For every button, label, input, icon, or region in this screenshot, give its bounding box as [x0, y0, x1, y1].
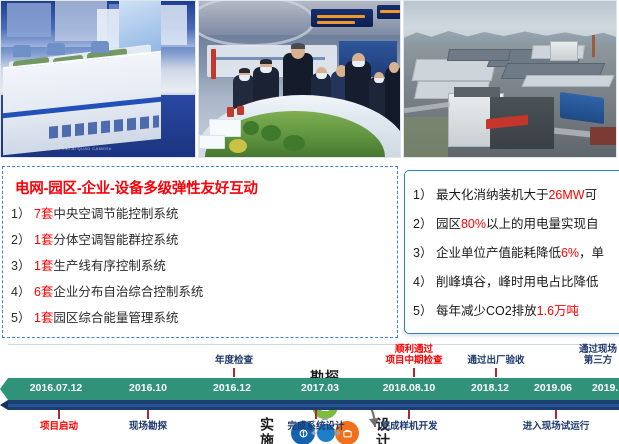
- camera-watermark-icon: [7, 140, 19, 149]
- item-quantity: 6套: [34, 285, 53, 299]
- milestone-label-prototype: 完成样机开发: [380, 421, 437, 432]
- item-highlight: 1.6万吨: [537, 304, 579, 318]
- left-panel-list: 1） 7套中央空调节能控制系统 2） 1套分体空调智能群控系统 3） 1套生产线…: [11, 201, 261, 331]
- timeline-date: 2017.03: [301, 382, 339, 394]
- item-number: 2）: [11, 233, 30, 247]
- visitor-5-mask: [352, 61, 365, 67]
- chimney-stack: [592, 35, 595, 57]
- list-item: 3） 1套生产线有序控制系统: [11, 253, 261, 279]
- item-text-pre: 企业单位产值能耗降低: [436, 246, 561, 260]
- milestone-label-midterm-review: 顺利通过 项目中期检查: [385, 344, 442, 366]
- item-text: 中央空调节能控制系统: [53, 207, 178, 221]
- item-number: 4）: [413, 275, 432, 289]
- milestone-label-factory-acceptance: 通过出厂验收: [467, 355, 524, 366]
- photo-row: SHOT ON REDMI K30 AI QUAD CAMERA: [0, 0, 619, 160]
- timeline-date: 2016.10: [129, 382, 167, 394]
- label-line: 项目中期检查: [385, 355, 442, 366]
- photo-exhibition-model-booth: SHOT ON REDMI K30 AI QUAD CAMERA: [0, 0, 196, 158]
- booth-arch-1: [13, 45, 31, 57]
- milestone-label-field-trial: 进入现场试运行: [523, 421, 590, 432]
- list-item: 1） 最大化消纳装机大于26MW可: [413, 181, 619, 210]
- item-text: 园区综合能量管理系统: [53, 311, 178, 325]
- left-panel-title: 电网-园区-企业-设备多级弹性友好互动: [15, 177, 387, 198]
- milestone-label-project-start: 项目启动: [40, 421, 78, 432]
- warehouse-roof-1: [412, 59, 497, 81]
- warehouse-roof-5: [521, 75, 614, 87]
- model-red-tank-1: [227, 107, 234, 117]
- timeline-date: 2018.08.10: [383, 382, 436, 394]
- item-quantity: 1套: [34, 311, 53, 325]
- milestone-tick-up: [233, 368, 235, 377]
- visitor-1-mask: [239, 75, 250, 81]
- item-highlight: 6%: [561, 246, 579, 260]
- item-quantity: 1套: [34, 233, 53, 247]
- milestone-tick-down: [555, 410, 557, 419]
- red-banner: [211, 49, 216, 79]
- list-item: 2） 1套分体空调智能群控系统: [11, 227, 261, 253]
- item-highlight: 26MW: [548, 188, 584, 202]
- model-red-tank-2: [237, 106, 244, 115]
- visitor-leader-hair: [291, 43, 305, 49]
- timeline-date: 2018.12: [471, 382, 509, 394]
- item-text-post: 以上的用电量实现自: [486, 217, 599, 231]
- visitor-7-head: [389, 62, 399, 73]
- led-banner-1: [311, 9, 373, 27]
- booth-arch-2: [47, 43, 65, 55]
- label-line: 通过现场: [579, 344, 617, 355]
- item-text-post: ，单: [579, 246, 604, 260]
- visitor-1-hair: [239, 68, 250, 73]
- right-panel-list: 1） 最大化消纳装机大于26MW可 2） 园区80%以上的用电量实现自 3） 企…: [413, 181, 619, 326]
- item-number: 3）: [11, 259, 30, 273]
- red-roof-building: [590, 127, 617, 145]
- booth-poster-secondary: [161, 5, 187, 45]
- visitor-2-mask: [260, 67, 272, 73]
- item-text-pre: 每年减少CO2排放: [436, 304, 537, 318]
- item-number: 3）: [413, 246, 432, 260]
- item-text-pre: 园区: [436, 217, 461, 231]
- label-line: 通过出厂验收: [467, 355, 524, 366]
- model-tuft-2: [261, 125, 281, 141]
- timeline-date: 2019.06: [534, 382, 572, 394]
- list-item: 1） 7套中央空调节能控制系统: [11, 201, 261, 227]
- label-line: 年度检查: [215, 355, 253, 366]
- item-number: 5）: [413, 304, 432, 318]
- milestone-tick-down: [315, 410, 317, 419]
- item-text-post: 可: [585, 188, 598, 202]
- led-banner-1-text: [317, 15, 365, 18]
- item-text: 企业分布自治综合控制系统: [53, 285, 203, 299]
- item-highlight: 80%: [461, 217, 486, 231]
- label-line: 顺利通过: [385, 344, 442, 355]
- milestone-label-third-party: 通过现场 第三方: [579, 344, 617, 366]
- visitor-3-mask: [316, 73, 327, 79]
- item-text-pre: 削峰填谷，峰时用电占比降低: [436, 275, 599, 289]
- model-white-building-2: [199, 135, 225, 149]
- milestone-tick-up: [413, 368, 415, 377]
- photo-watermark: SHOT ON REDMI K30 AI QUAD CAMERA: [23, 146, 112, 151]
- milestone-label-system-design: 完成系统设计: [287, 421, 344, 432]
- timeline-date: 2016.07.12: [30, 382, 83, 394]
- model-tuft-1: [243, 121, 259, 135]
- timeline-base-highlight: [8, 404, 619, 407]
- list-item: 4） 削峰填谷，峰时用电占比降低: [413, 268, 619, 297]
- list-item: 4） 6套企业分布自治综合控制系统: [11, 279, 261, 305]
- milestone-label-annual-check: 年度检查: [215, 355, 253, 366]
- item-quantity: 7套: [34, 207, 53, 221]
- timeline-divider: [8, 344, 608, 345]
- plant-roof-units: [454, 87, 500, 97]
- led-banner-2-text: [380, 10, 400, 13]
- list-item: 5） 1套园区综合能量管理系统: [11, 305, 261, 331]
- timeline-date: 2016.12: [213, 382, 251, 394]
- model-tuft-4: [229, 139, 247, 153]
- project-timeline: 2016.07.12 2016.10 2016.12 2017.03 2018.…: [0, 344, 619, 444]
- booth-arch-3: [91, 41, 109, 53]
- left-info-panel: 电网-园区-企业-设备多级弹性友好互动 1） 7套中央空调节能控制系统 2） 1…: [2, 166, 398, 338]
- milestone-tick-down: [147, 410, 149, 419]
- item-number: 4）: [11, 285, 30, 299]
- item-text-pre: 最大化消纳装机大于: [436, 188, 549, 202]
- item-text: 生产线有序控制系统: [53, 259, 166, 273]
- list-item: 3） 企业单位产值能耗降低6%，单: [413, 239, 619, 268]
- list-item: 5） 每年减少CO2排放1.6万吨: [413, 297, 619, 326]
- green-field: [404, 117, 448, 158]
- item-quantity: 1套: [34, 259, 53, 273]
- item-number: 1）: [11, 207, 30, 221]
- list-item: 2） 园区80%以上的用电量实现自: [413, 210, 619, 239]
- visitor-6-mask: [374, 78, 384, 83]
- timeline-date: 2019.1: [592, 382, 619, 394]
- photo-officials-visiting-exhibition: [198, 0, 401, 158]
- booth-panel-a: [7, 3, 51, 37]
- milestone-tick-down: [58, 410, 60, 419]
- milestone-tick-down: [408, 410, 410, 419]
- office-building: [550, 41, 578, 61]
- item-text: 分体空调智能群控系统: [53, 233, 178, 247]
- item-number: 2）: [413, 217, 432, 231]
- warehouse-roof-6: [447, 49, 511, 61]
- milestone-label-site-survey: 现场勘探: [129, 421, 167, 432]
- right-benefits-panel: 1） 最大化消纳装机大于26MW可 2） 园区80%以上的用电量实现自 3） 企…: [404, 170, 619, 334]
- photo-aerial-industrial-park: [403, 0, 617, 158]
- model-tuft-3: [283, 135, 305, 151]
- milestone-tick-up: [495, 368, 497, 377]
- item-number: 5）: [11, 311, 30, 325]
- visitor-2-hair: [260, 59, 272, 64]
- item-number: 1）: [413, 188, 432, 202]
- slide-root: SHOT ON REDMI K30 AI QUAD CAMERA: [0, 0, 619, 444]
- led-banner-1-text2: [317, 21, 355, 24]
- label-line: 第三方: [579, 355, 617, 366]
